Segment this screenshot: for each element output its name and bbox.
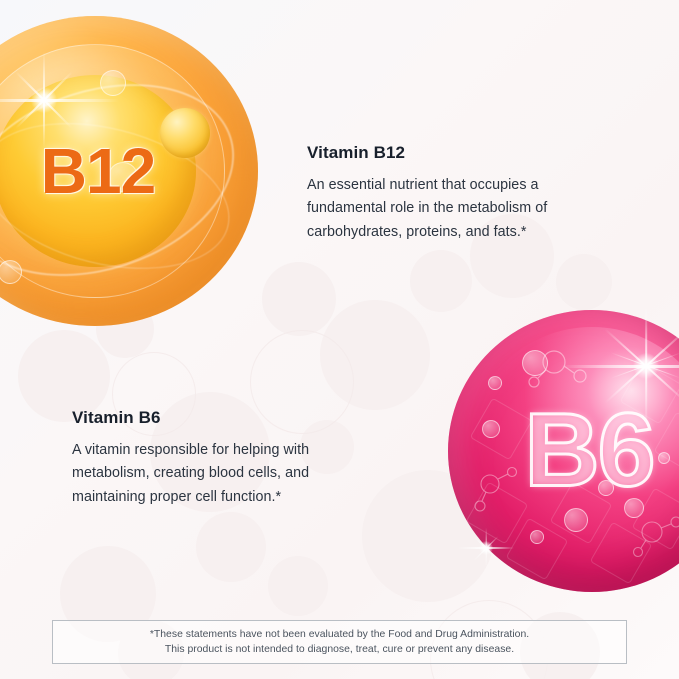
b6-orb-label: B6 (448, 392, 679, 511)
b6-bubble-a (522, 350, 548, 376)
disclaimer-line-1: *These statements have not been evaluate… (150, 627, 529, 642)
b6-bubble-e (564, 508, 588, 532)
fda-disclaimer-box: *These statements have not been evaluate… (52, 620, 627, 664)
b12-orb-label: B12 (0, 134, 258, 208)
vitamin-b6-orb: B6 (448, 310, 679, 592)
vitamin-b6-title: Vitamin B6 (72, 408, 362, 428)
disclaimer-line-2: This product is not intended to diagnose… (165, 642, 514, 657)
infographic-page: B12 (0, 0, 679, 679)
b6-bubble-b (488, 376, 502, 390)
vitamin-b6-text-block: Vitamin B6 A vitamin responsible for hel… (72, 408, 362, 509)
vitamin-b12-title: Vitamin B12 (307, 143, 607, 163)
vitamin-b12-orb: B12 (0, 16, 258, 326)
vitamin-b12-text-block: Vitamin B12 An essential nutrient that o… (307, 143, 607, 244)
vitamin-b12-description: An essential nutrient that occupies a fu… (307, 174, 607, 244)
b6-bubble-g (530, 530, 544, 544)
vitamin-b6-description: A vitamin responsible for helping with m… (72, 439, 362, 509)
b12-bubble-b (100, 70, 126, 96)
